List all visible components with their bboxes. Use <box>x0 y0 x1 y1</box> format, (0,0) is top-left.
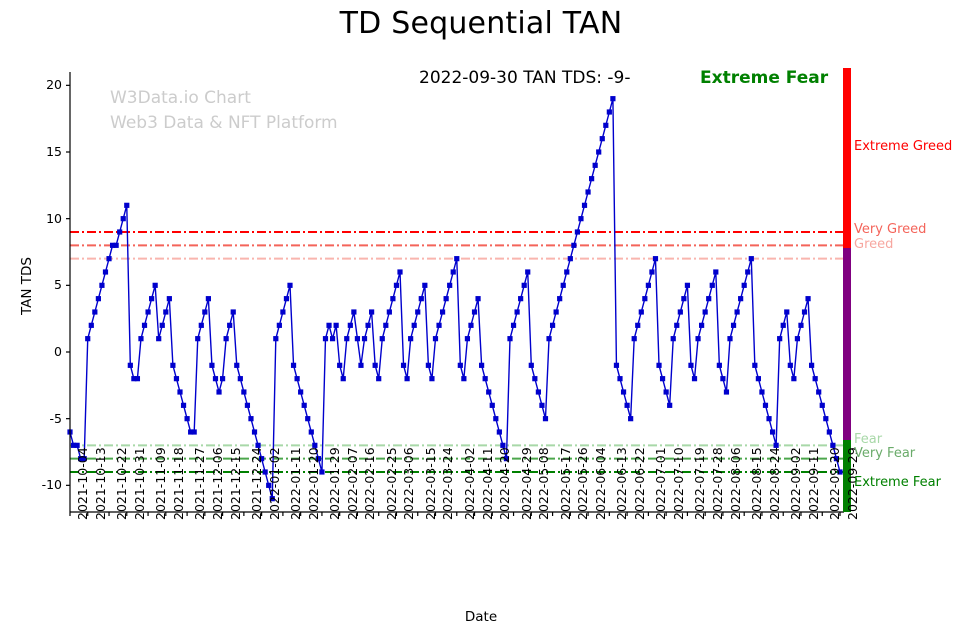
data-point <box>550 323 555 328</box>
data-point <box>252 429 257 434</box>
y-tick-label: -5 <box>16 411 62 426</box>
data-point <box>387 309 392 314</box>
data-point <box>706 296 711 301</box>
data-point <box>351 309 356 314</box>
x-tick-label: 2022-09-02 <box>788 447 803 520</box>
data-point <box>199 323 204 328</box>
data-point <box>468 323 473 328</box>
data-point <box>671 336 676 341</box>
data-point <box>600 136 605 141</box>
data-point <box>124 203 129 208</box>
data-point <box>522 283 527 288</box>
data-point <box>117 229 122 234</box>
data-point <box>582 203 587 208</box>
data-line <box>70 99 840 499</box>
data-point <box>245 403 250 408</box>
data-point <box>330 336 335 341</box>
x-tick-label: 2022-01-02 <box>267 447 282 520</box>
data-point <box>479 363 484 368</box>
data-point <box>529 363 534 368</box>
x-tick-label: 2022-06-13 <box>614 447 629 520</box>
data-point <box>766 416 771 421</box>
data-point <box>405 376 410 381</box>
data-point <box>106 256 111 261</box>
x-tick-label: 2022-04-20 <box>497 447 512 520</box>
data-point <box>160 323 165 328</box>
data-point <box>337 363 342 368</box>
data-point <box>174 376 179 381</box>
data-point <box>660 376 665 381</box>
data-point <box>365 323 370 328</box>
x-tick-label: 2022-07-01 <box>653 447 668 520</box>
data-point <box>667 403 672 408</box>
y-tick-label: 10 <box>16 211 62 226</box>
data-point <box>571 243 576 248</box>
x-tick-label: 2022-07-10 <box>671 447 686 520</box>
x-tick-label: 2022-01-20 <box>306 447 321 520</box>
data-point <box>781 323 786 328</box>
data-point <box>795 336 800 341</box>
data-point <box>759 389 764 394</box>
data-point <box>784 309 789 314</box>
data-point <box>589 176 594 181</box>
data-point <box>568 256 573 261</box>
data-point <box>419 296 424 301</box>
data-point <box>277 323 282 328</box>
data-point <box>490 403 495 408</box>
data-point <box>185 416 190 421</box>
data-point <box>454 256 459 261</box>
x-tick-label: 2022-03-15 <box>423 447 438 520</box>
data-point <box>291 363 296 368</box>
data-point <box>713 269 718 274</box>
x-tick-label: 2022-02-16 <box>362 447 377 520</box>
data-point <box>451 269 456 274</box>
data-point <box>813 376 818 381</box>
data-point <box>362 336 367 341</box>
x-tick-label: 2022-09-11 <box>806 447 821 520</box>
data-point <box>752 363 757 368</box>
x-tick-label: 2022-09-20 <box>827 447 842 520</box>
x-tick-label: 2021-11-18 <box>171 447 186 520</box>
data-point <box>355 336 360 341</box>
data-point <box>628 416 633 421</box>
data-point <box>596 149 601 154</box>
data-point <box>408 336 413 341</box>
data-point <box>433 336 438 341</box>
data-point <box>554 309 559 314</box>
data-point <box>635 323 640 328</box>
data-point <box>429 376 434 381</box>
data-markers <box>67 96 842 501</box>
data-point <box>383 323 388 328</box>
data-point <box>685 283 690 288</box>
x-tick-label: 2022-06-04 <box>593 447 608 520</box>
data-point <box>710 283 715 288</box>
data-point <box>532 376 537 381</box>
x-tick-label: 2022-02-25 <box>384 447 399 520</box>
data-point <box>380 336 385 341</box>
data-point <box>695 336 700 341</box>
data-point <box>518 296 523 301</box>
data-point <box>749 256 754 261</box>
data-point <box>497 429 502 434</box>
data-point <box>483 376 488 381</box>
x-tick-label: 2022-04-02 <box>462 447 477 520</box>
data-point <box>674 323 679 328</box>
data-point <box>649 269 654 274</box>
data-point <box>511 323 516 328</box>
data-point <box>820 403 825 408</box>
x-tick-label: 2021-12-15 <box>228 447 243 520</box>
data-point <box>163 309 168 314</box>
x-tick-label: 2022-08-24 <box>767 447 782 520</box>
data-point <box>642 296 647 301</box>
data-point <box>557 296 562 301</box>
x-tick-label: 2021-12-06 <box>210 447 225 520</box>
data-point <box>213 376 218 381</box>
x-tick-label: 2022-04-29 <box>519 447 534 520</box>
data-point <box>507 336 512 341</box>
data-point <box>153 283 158 288</box>
x-tick-label: 2022-05-26 <box>575 447 590 520</box>
data-point <box>745 269 750 274</box>
data-point <box>142 323 147 328</box>
data-point <box>827 429 832 434</box>
band-label-very-fear: Very Fear <box>854 446 915 461</box>
data-point <box>177 389 182 394</box>
data-point <box>536 389 541 394</box>
data-point <box>238 376 243 381</box>
data-point <box>564 269 569 274</box>
band-label-very-greed: Very Greed <box>854 222 926 237</box>
data-point <box>472 309 477 314</box>
data-point <box>248 416 253 421</box>
data-point <box>181 403 186 408</box>
band-label-extreme-fear: Extreme Fear <box>854 475 941 490</box>
data-point <box>401 363 406 368</box>
data-point <box>440 309 445 314</box>
chart-figure: TD Sequential TAN W3Data.io Chart Web3 D… <box>0 0 962 633</box>
data-point <box>415 309 420 314</box>
data-point <box>96 296 101 301</box>
data-point <box>727 336 732 341</box>
data-point <box>156 336 161 341</box>
data-point <box>358 363 363 368</box>
data-point <box>798 323 803 328</box>
data-point <box>486 389 491 394</box>
data-point <box>344 336 349 341</box>
x-tick-label: 2022-01-11 <box>288 447 303 520</box>
data-point <box>788 363 793 368</box>
data-point <box>777 336 782 341</box>
data-point <box>206 296 211 301</box>
data-point <box>756 376 761 381</box>
x-tick-label: 2021-10-31 <box>132 447 147 520</box>
x-tick-label: 2021-10-13 <box>93 447 108 520</box>
x-tick-label: 2021-12-24 <box>249 447 264 520</box>
data-point <box>639 309 644 314</box>
data-point <box>348 323 353 328</box>
data-point <box>99 283 104 288</box>
y-tick-label: 0 <box>16 344 62 359</box>
x-tick-label: 2022-06-22 <box>632 447 647 520</box>
plot-canvas <box>0 0 962 633</box>
data-point <box>539 403 544 408</box>
data-point <box>295 376 300 381</box>
data-point <box>546 336 551 341</box>
x-tick-label: 2022-03-24 <box>440 447 455 520</box>
data-point <box>444 296 449 301</box>
data-point <box>216 389 221 394</box>
data-point <box>302 403 307 408</box>
data-point <box>145 309 150 314</box>
x-tick-label: 2021-11-09 <box>153 447 168 520</box>
data-point <box>422 283 427 288</box>
data-point <box>202 309 207 314</box>
data-point <box>614 363 619 368</box>
data-point <box>678 309 683 314</box>
data-point <box>394 283 399 288</box>
y-tick-label: -10 <box>16 477 62 492</box>
x-tick-label: 2022-05-17 <box>558 447 573 520</box>
data-point <box>461 376 466 381</box>
data-point <box>373 363 378 368</box>
data-point <box>390 296 395 301</box>
x-tick-label: 2022-08-15 <box>749 447 764 520</box>
data-point <box>809 363 814 368</box>
data-point <box>578 216 583 221</box>
data-point <box>167 296 172 301</box>
data-point <box>681 296 686 301</box>
data-point <box>426 363 431 368</box>
data-point <box>475 296 480 301</box>
data-point <box>326 323 331 328</box>
data-point <box>412 323 417 328</box>
x-tick-label: 2022-08-06 <box>728 447 743 520</box>
x-tick-label: 2022-07-28 <box>710 447 725 520</box>
data-point <box>720 376 725 381</box>
data-point <box>128 363 133 368</box>
band-label-greed: Greed <box>854 237 893 252</box>
data-point <box>334 323 339 328</box>
x-tick-label: 2022-02-07 <box>345 447 360 520</box>
x-tick-label: 2021-11-27 <box>192 447 207 520</box>
data-point <box>692 376 697 381</box>
data-point <box>603 123 608 128</box>
data-point <box>703 309 708 314</box>
data-point <box>309 429 314 434</box>
data-point <box>284 296 289 301</box>
data-point <box>369 309 374 314</box>
data-point <box>376 376 381 381</box>
data-point <box>543 416 548 421</box>
x-tick-label: 2022-04-11 <box>480 447 495 520</box>
data-point <box>607 109 612 114</box>
data-point <box>280 309 285 314</box>
data-point <box>273 336 278 341</box>
data-point <box>224 336 229 341</box>
data-point <box>593 163 598 168</box>
data-point <box>656 363 661 368</box>
data-point <box>341 376 346 381</box>
data-point <box>234 363 239 368</box>
data-point <box>802 309 807 314</box>
data-point <box>699 323 704 328</box>
data-point <box>717 363 722 368</box>
data-point <box>791 376 796 381</box>
data-point <box>436 323 441 328</box>
x-tick-label: 2022-01-29 <box>327 447 342 520</box>
data-point <box>397 269 402 274</box>
data-point <box>192 429 197 434</box>
data-point <box>287 283 292 288</box>
data-point <box>121 216 126 221</box>
band-label-fear: Fear <box>854 432 882 447</box>
data-point <box>525 269 530 274</box>
colorbar-greed-zone <box>843 68 851 248</box>
data-point <box>617 376 622 381</box>
band-label-extreme-greed: Extreme Greed <box>854 139 952 154</box>
data-point <box>323 336 328 341</box>
data-point <box>103 269 108 274</box>
data-point <box>298 389 303 394</box>
y-tick-label: 20 <box>16 77 62 92</box>
data-point <box>823 416 828 421</box>
data-point <box>209 363 214 368</box>
data-point <box>92 309 97 314</box>
data-point <box>742 283 747 288</box>
y-tick-label: 5 <box>16 277 62 292</box>
x-tick-label: 2021-10-22 <box>114 447 129 520</box>
colorbar-neutral-zone <box>843 248 851 440</box>
data-point <box>220 376 225 381</box>
data-point <box>610 96 615 101</box>
data-point <box>575 229 580 234</box>
data-point <box>561 283 566 288</box>
data-point <box>585 189 590 194</box>
data-point <box>85 336 90 341</box>
data-point <box>458 363 463 368</box>
data-point <box>735 309 740 314</box>
data-point <box>465 336 470 341</box>
x-tick-label: 2021-10-04 <box>75 447 90 520</box>
data-point <box>688 363 693 368</box>
data-point <box>621 389 626 394</box>
data-point <box>195 336 200 341</box>
data-point <box>515 309 520 314</box>
data-point <box>625 403 630 408</box>
data-point <box>731 323 736 328</box>
data-point <box>805 296 810 301</box>
x-tick-label: 2022-07-19 <box>692 447 707 520</box>
data-point <box>816 389 821 394</box>
data-point <box>231 309 236 314</box>
data-point <box>149 296 154 301</box>
data-point <box>646 283 651 288</box>
data-point <box>114 243 119 248</box>
data-point <box>135 376 140 381</box>
data-point <box>738 296 743 301</box>
data-point <box>227 323 232 328</box>
data-point <box>632 336 637 341</box>
data-point <box>241 389 246 394</box>
data-point <box>770 429 775 434</box>
data-point <box>763 403 768 408</box>
data-point <box>447 283 452 288</box>
data-point <box>138 336 143 341</box>
y-tick-label: 15 <box>16 144 62 159</box>
x-tick-label: 2022-03-06 <box>401 447 416 520</box>
data-point <box>89 323 94 328</box>
data-point <box>305 416 310 421</box>
x-tick-label: 2022-05-08 <box>536 447 551 520</box>
data-point <box>664 389 669 394</box>
data-point <box>493 416 498 421</box>
data-point <box>170 363 175 368</box>
data-point <box>724 389 729 394</box>
data-point <box>653 256 658 261</box>
